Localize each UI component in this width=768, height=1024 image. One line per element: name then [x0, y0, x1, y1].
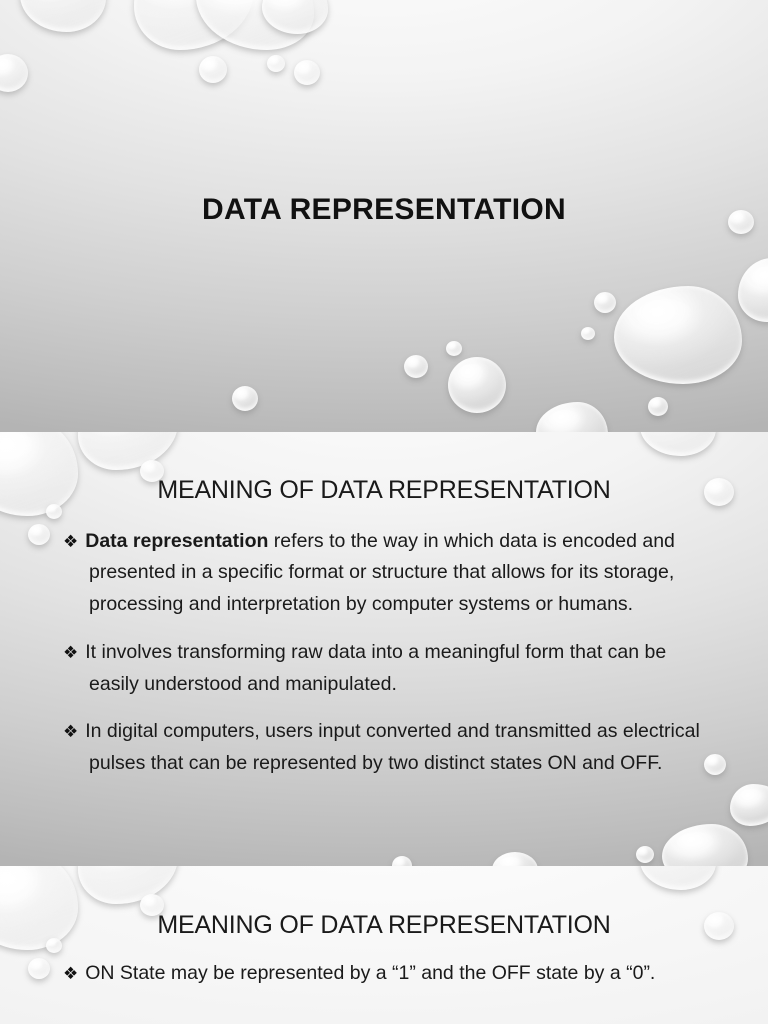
page-title: DATA REPRESENTATION	[0, 193, 768, 227]
bullet-text: ON State may be represented by a “1” and…	[85, 962, 655, 984]
slide-title: DATA REPRESENTATION	[0, 0, 768, 432]
slide-content: MEANING OF DATA REPRESENTATION ❖ON State…	[0, 866, 768, 989]
list-item: ❖It involves transforming raw data into …	[0, 637, 768, 701]
slide-deck: DATA REPRESENTATION MEANING OF DATA REPR…	[0, 0, 768, 1024]
slide-content: MEANING OF DATA REPRESENTATION ❖Data rep…	[0, 432, 768, 780]
slide-heading: MEANING OF DATA REPRESENTATION	[0, 866, 768, 940]
slide-meaning-b: MEANING OF DATA REPRESENTATION ❖ON State…	[0, 866, 768, 1024]
diamond-fleuron-bullet-icon: ❖	[63, 532, 78, 552]
bullet-list: ❖Data representation refers to the way i…	[0, 526, 768, 780]
diamond-fleuron-bullet-icon: ❖	[63, 964, 78, 984]
bullet-list: ❖ON State may be represented by a “1” an…	[0, 958, 768, 990]
bullet-text: It involves transforming raw data into a…	[85, 641, 666, 695]
list-item: ❖Data representation refers to the way i…	[0, 526, 768, 621]
slide-meaning-a: MEANING OF DATA REPRESENTATION ❖Data rep…	[0, 432, 768, 866]
list-item: ❖ON State may be represented by a “1” an…	[0, 958, 768, 990]
bullet-text: In digital computers, users input conver…	[85, 720, 700, 774]
bullet-lead: Data representation	[85, 530, 268, 552]
diamond-fleuron-bullet-icon: ❖	[63, 643, 78, 663]
diamond-fleuron-bullet-icon: ❖	[63, 722, 78, 742]
list-item: ❖In digital computers, users input conve…	[0, 716, 768, 780]
slide-heading: MEANING OF DATA REPRESENTATION	[0, 432, 768, 505]
